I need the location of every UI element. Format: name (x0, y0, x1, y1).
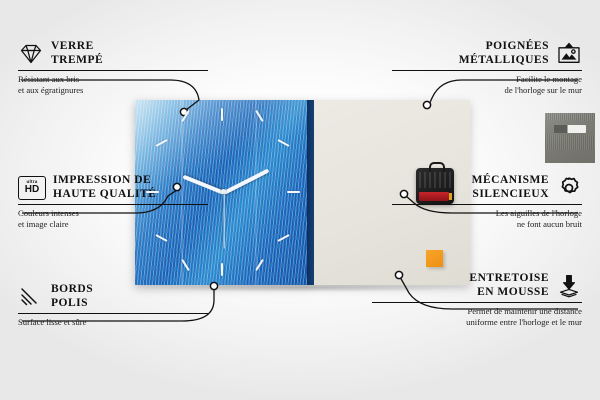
callout-divider (18, 70, 208, 71)
callout-title-line2: EN MOUSSE (469, 286, 549, 300)
clock-tick (255, 259, 264, 271)
gear-icon (556, 175, 582, 201)
clock-tick (221, 263, 223, 276)
callout-verre-trempe: VERRE TREMPÉ Résistant aux bris et aux é… (18, 40, 208, 96)
clock-tick (155, 234, 167, 242)
callout-mecanisme-silencieux: MÉCANISME SILENCIEUX Les aiguilles de l'… (392, 174, 582, 230)
callout-divider (18, 313, 208, 314)
hanger-keyhole-slot (554, 125, 586, 133)
callout-title-line2: HAUTE QUALITÉ (53, 188, 156, 202)
callout-divider (18, 204, 208, 205)
callout-title-line2: POLIS (51, 297, 93, 311)
callout-desc-line1: Facilite le montage (392, 74, 582, 85)
clock-tick (155, 139, 167, 147)
callout-title-line1: POIGNÉES (459, 40, 549, 54)
callout-title-line2: MÉTALLIQUES (459, 54, 549, 68)
callout-title-line1: IMPRESSION DE (53, 174, 156, 188)
callout-desc-line2: et image claire (18, 219, 208, 230)
callout-desc-line1: Couleurs intenses (18, 208, 208, 219)
callout-title-line2: SILENCIEUX (472, 188, 549, 202)
clock-tick (287, 191, 300, 193)
diagonal-lines-icon (18, 284, 44, 310)
callout-desc-line1: Les aiguilles de l'horloge (392, 208, 582, 219)
clock-tick (277, 234, 289, 242)
infographic-canvas: VERRE TREMPÉ Résistant aux bris et aux é… (0, 0, 600, 400)
clock-side-edge (307, 100, 314, 285)
callout-divider (372, 302, 582, 303)
clock-hand-minute (223, 169, 269, 195)
clock-tick (221, 108, 223, 121)
callout-desc-line2: uniforme entre l'horloge et le mur (372, 317, 582, 328)
foam-spacer (426, 250, 443, 267)
ultra-hd-icon-main-text: HD (25, 185, 39, 196)
callout-desc-line1: Résistant aux bris (18, 74, 208, 85)
callout-desc-line2: ne font aucun bruit (392, 219, 582, 230)
callout-desc-line1: Surface lisse et sûre (18, 317, 208, 328)
clock-tick (181, 110, 190, 122)
mechanism-hook (429, 162, 445, 172)
diamond-icon (18, 41, 44, 67)
callout-divider (392, 70, 582, 71)
callout-entretoise-en-mousse: ENTRETOISE EN MOUSSE Permet de maintenir… (372, 272, 582, 328)
clock-tick (255, 110, 264, 122)
arrow-down-layers-icon (556, 273, 582, 299)
clock-tick (181, 259, 190, 271)
clock-hub (221, 189, 226, 194)
clock-tick (277, 139, 289, 147)
callout-desc-line2: de l'horloge sur le mur (392, 85, 582, 96)
clock-hand-second (223, 193, 224, 249)
picture-frame-hanger-icon (556, 41, 582, 67)
callout-impression-haute-qualite: ultra HD IMPRESSION DE HAUTE QUALITÉ Cou… (18, 174, 208, 230)
callout-desc-line1: Permet de maintenir une distance (372, 306, 582, 317)
clock-tick (146, 191, 159, 193)
callout-title-line1: VERRE (51, 40, 103, 54)
callout-title-line1: BORDS (51, 283, 93, 297)
callout-desc-line2: et aux égratignures (18, 85, 208, 96)
callout-title-line2: TREMPÉ (51, 54, 103, 68)
callout-title-line1: MÉCANISME (472, 174, 549, 188)
ultra-hd-icon: ultra HD (18, 176, 46, 200)
metal-hanger-plate (545, 113, 595, 163)
callout-title-line1: ENTRETOISE (469, 272, 549, 286)
callout-poignees-metalliques: POIGNÉES MÉTALLIQUES Facilite le montage… (392, 40, 582, 96)
callout-bords-polis: BORDS POLIS Surface lisse et sûre (18, 283, 208, 328)
callout-divider (392, 204, 582, 205)
